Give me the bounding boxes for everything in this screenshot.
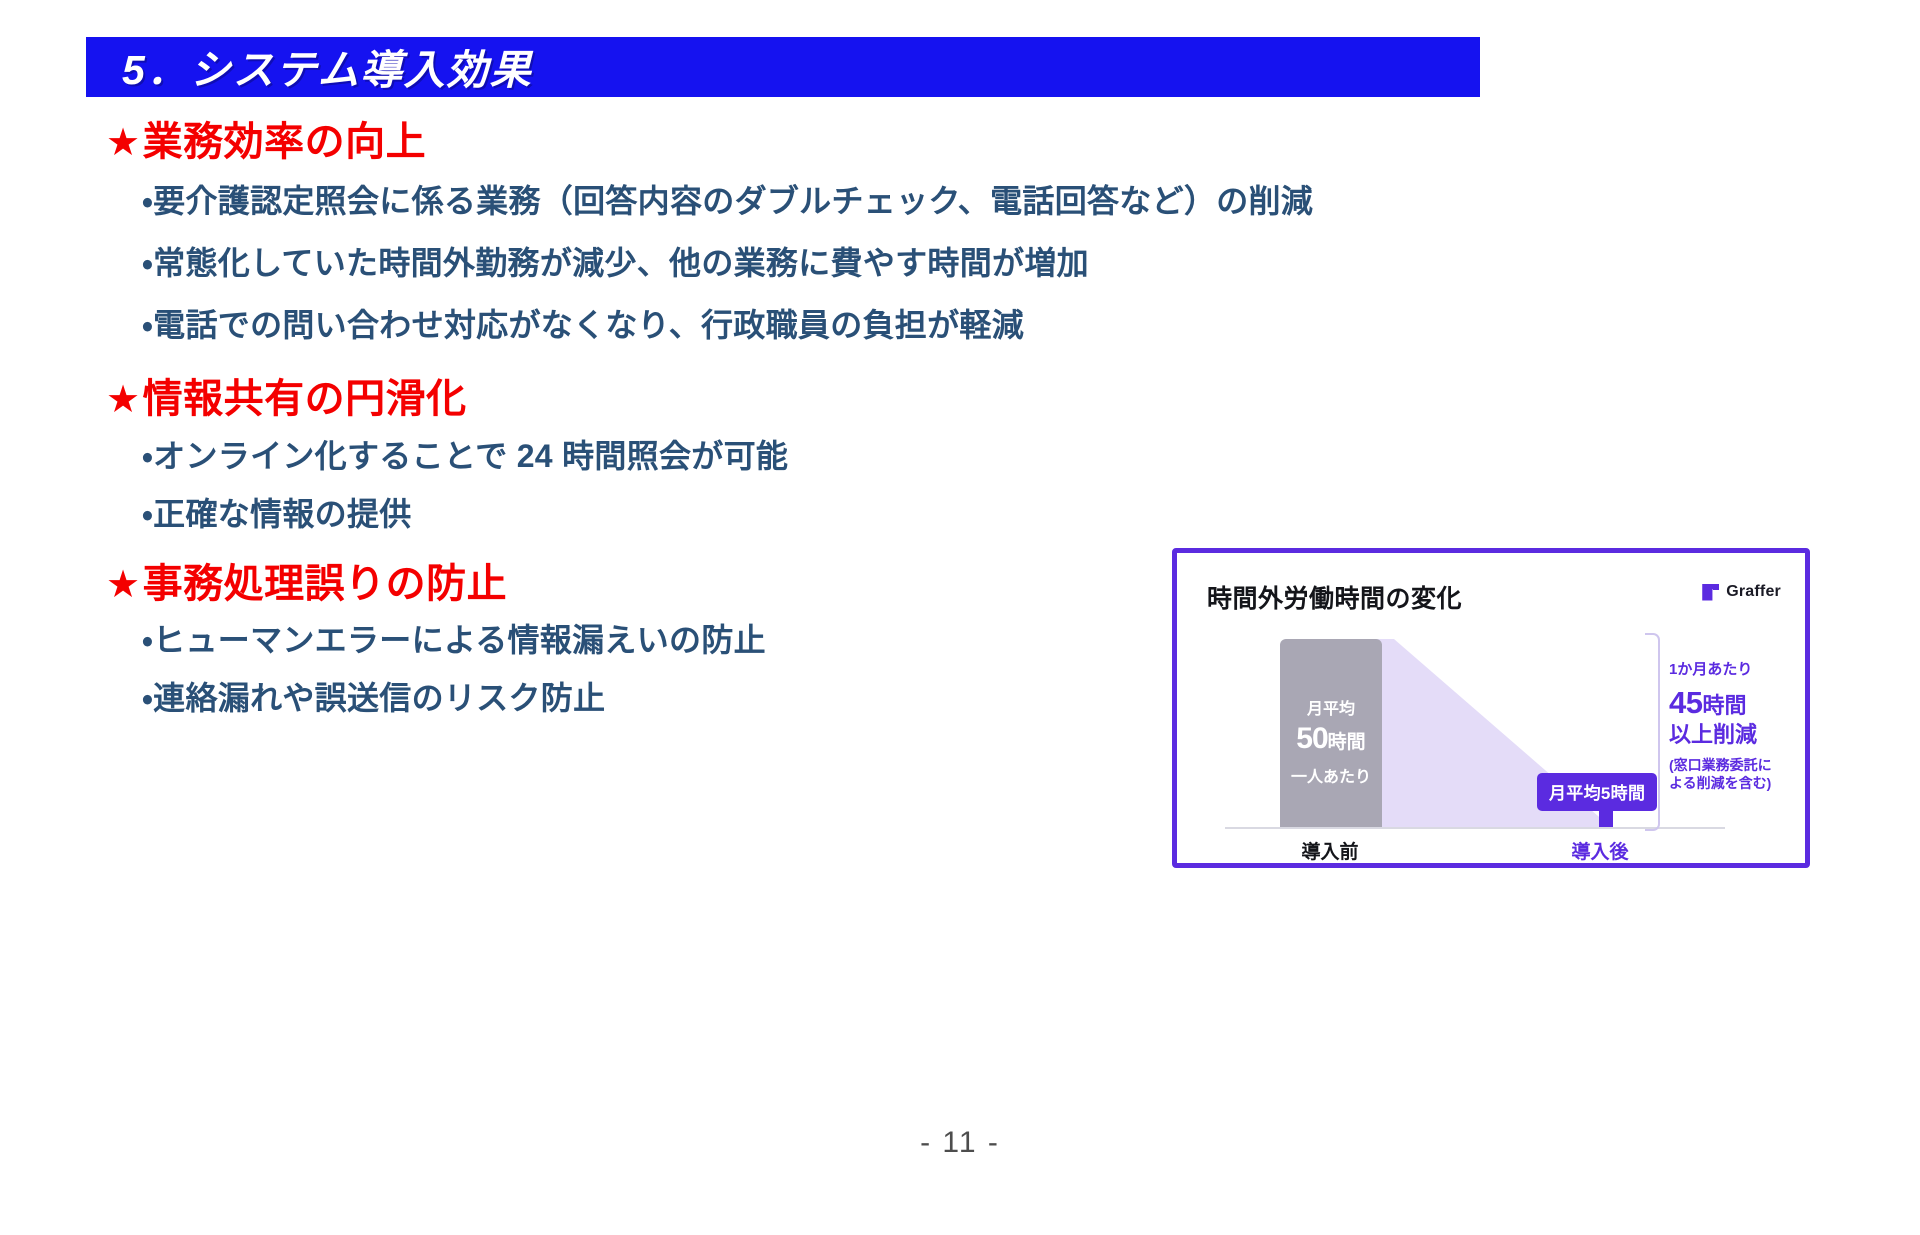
section-heading: ★業務効率の向上 [106, 118, 1220, 167]
section-business-efficiency: ★業務効率の向上 ・要介護認定照会に係る業務（回答内容のダブルチェック、電話回答… [100, 118, 1220, 357]
chart-card-inner: 時間外労働時間の変化 Graffer 月平均 50時間 一人あたり 月平均5時間… [1177, 553, 1805, 863]
annotation-note-line1: (窓口業務委託に [1669, 757, 1799, 775]
graffer-logo: Graffer [1702, 583, 1781, 601]
section-heading-label: 事務処理誤りの防止 [143, 562, 508, 606]
section-heading: ★事務処理誤りの防止 [106, 560, 1220, 609]
list-item: ・要介護認定照会に係る業務（回答内容のダブルチェック、電話回答など）の削減 [142, 171, 1220, 233]
section-information-sharing: ★情報共有の円滑化 ・オンライン化することで 24 時間照会が可能 ・正確な情報… [100, 375, 1220, 544]
bar-before-number: 50 [1296, 722, 1327, 755]
star-icon: ★ [106, 122, 141, 164]
slide-body: ★業務効率の向上 ・要介護認定照会に係る業務（回答内容のダブルチェック、電話回答… [100, 118, 1220, 730]
chart-title: 時間外労働時間の変化 [1207, 579, 1462, 615]
slide-title-bar: 5．システム導入効果 [86, 37, 1480, 97]
bar-before-label-top: 月平均 [1280, 695, 1382, 719]
section-heading: ★情報共有の円滑化 [106, 375, 1220, 424]
category-label-before: 導入前 [1265, 837, 1395, 864]
bullet-list: ・ヒューマンエラーによる情報漏えいの防止 ・連絡漏れや誤送信のリスク防止 [100, 612, 1220, 728]
bullet-list: ・要介護認定照会に係る業務（回答内容のダブルチェック、電話回答など）の削減 ・常… [100, 171, 1220, 357]
reduction-annotation: 1か月あたり 45時間 以上削減 (窓口業務委託に よる削減を含む) [1669, 661, 1799, 793]
annotation-suffix: 以上削減 [1669, 722, 1799, 748]
bar-before-value: 50時間 [1280, 722, 1382, 756]
annotation-unit: 時間 [1702, 693, 1746, 718]
list-item: ・オンライン化することで 24 時間照会が可能 [142, 428, 1220, 486]
list-item: ・正確な情報の提供 [142, 486, 1220, 544]
category-label-after: 導入後 [1535, 837, 1665, 864]
list-item: ・ヒューマンエラーによる情報漏えいの防止 [142, 612, 1220, 670]
bar-before-label-bottom: 一人あたり [1280, 763, 1382, 787]
annotation-value: 45時間 [1669, 685, 1799, 722]
bar-before-unit: 時間 [1328, 732, 1366, 753]
page-number: - 11 - [0, 1126, 1920, 1160]
bullet-list: ・オンライン化することで 24 時間照会が可能 ・正確な情報の提供 [100, 428, 1220, 544]
section-heading-label: 業務効率の向上 [143, 120, 427, 164]
annotation-number: 45 [1669, 685, 1702, 720]
star-icon: ★ [106, 564, 141, 606]
graffer-logo-label: Graffer [1726, 583, 1781, 601]
after-value-badge: 月平均5時間 [1537, 773, 1657, 811]
list-item: ・常態化していた時間外勤務が減少、他の業務に費やす時間が増加 [142, 233, 1220, 295]
graffer-mark-icon [1702, 584, 1719, 601]
page-title: 5．システム導入効果 [122, 36, 533, 96]
reduction-bracket [1645, 633, 1660, 831]
list-item: ・電話での問い合わせ対応がなくなり、行政職員の負担が軽減 [142, 295, 1220, 357]
list-item: ・連絡漏れや誤送信のリスク防止 [142, 670, 1220, 728]
annotation-note-line2: よる削減を含む) [1669, 775, 1799, 793]
chart-plot-area: 月平均 50時間 一人あたり 月平均5時間 1か月あたり 45時間 以上削減 (… [1225, 631, 1771, 829]
overtime-chart-card: 時間外労働時間の変化 Graffer 月平均 50時間 一人あたり 月平均5時間… [1172, 548, 1810, 868]
section-error-prevention: ★事務処理誤りの防止 ・ヒューマンエラーによる情報漏えいの防止 ・連絡漏れや誤送… [100, 560, 1220, 729]
annotation-period-label: 1か月あたり [1669, 661, 1799, 679]
star-icon: ★ [106, 379, 141, 421]
annotation-note: (窓口業務委託に よる削減を含む) [1669, 757, 1799, 793]
bar-before: 月平均 50時間 一人あたり [1280, 639, 1382, 829]
section-heading-label: 情報共有の円滑化 [143, 377, 467, 421]
